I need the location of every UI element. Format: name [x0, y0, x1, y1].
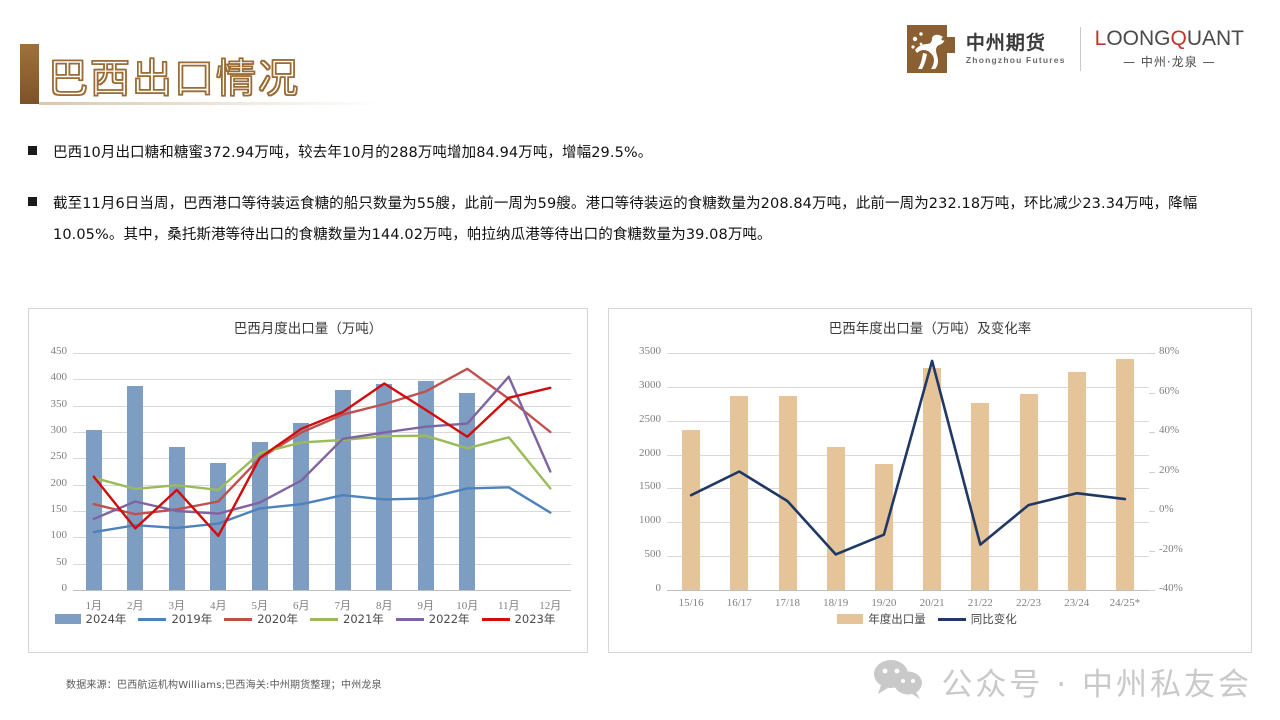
loongquant-cn: — 中州·龙泉 — [1123, 53, 1215, 70]
chart-line-2019年 [94, 487, 551, 532]
loongquant-en-uant: UANT [1187, 27, 1244, 50]
annual-export-chart-panel: 巴西年度出口量（万吨）及变化率 050010001500200025003000… [608, 308, 1252, 653]
x-axis-tick-label: 23/24 [1053, 597, 1101, 609]
legend-swatch-line [224, 618, 252, 621]
y2-tick-mark [1149, 551, 1155, 552]
loongquant-en: LOONGQUANT [1095, 28, 1244, 49]
y2-axis-tick-label: 40% [1159, 424, 1201, 436]
loongquant-wordmark: LOONGQUANT — 中州·龙泉 — [1095, 28, 1244, 70]
bullet-list: 巴西10月出口糖和糖蜜372.94万吨，较去年10月的288万吨增加84.94万… [28, 138, 1252, 271]
y-axis-tick-label: 300 [31, 424, 67, 436]
y2-tick-mark [1149, 472, 1155, 473]
y2-axis-tick-label: 80% [1159, 345, 1201, 357]
y-axis-tick-label: 450 [31, 345, 67, 357]
legend-item-2023年: 2023年 [482, 611, 556, 627]
legend-swatch-bar [837, 614, 863, 624]
legend-item-2020年: 2020年 [224, 611, 298, 627]
y-axis-tick-label: 1500 [625, 480, 661, 492]
chart-lines [73, 353, 571, 590]
legend-item-2024年: 2024年 [55, 611, 127, 627]
loongquant-en-oong: OONG [1106, 27, 1170, 50]
y2-tick-mark [1149, 393, 1155, 394]
y2-axis-tick-label: -20% [1159, 543, 1201, 555]
y-axis-tick-label: 2000 [625, 447, 661, 459]
legend-label: 2022年 [429, 611, 470, 627]
x-axis-tick-label: 22/23 [1004, 597, 1052, 609]
legend-item-年度出口量: 年度出口量 [837, 611, 926, 627]
legend-swatch-line [138, 618, 166, 621]
legend-swatch-bar [55, 614, 81, 624]
monthly-export-chart-panel: 巴西月度出口量（万吨） 0501001502002503003504004501… [28, 308, 588, 653]
legend-item-2021年: 2021年 [310, 611, 384, 627]
legend-item-2022年: 2022年 [396, 611, 470, 627]
chart-legend: 2024年2019年2020年2021年2022年2023年 [29, 611, 587, 627]
y-axis-tick-label: 400 [31, 371, 67, 383]
y2-tick-mark [1149, 432, 1155, 433]
x-axis-tick-label: 19/20 [860, 597, 908, 609]
y-axis-tick-label: 500 [625, 548, 661, 560]
y-axis-tick-label: 150 [31, 503, 67, 515]
x-axis-tick-label: 24/25* [1101, 597, 1149, 609]
leopard-logo-icon [905, 23, 957, 75]
y-axis-tick-label: 2500 [625, 413, 661, 425]
x-axis-line [73, 590, 571, 591]
x-axis-tick-label: 17/18 [763, 597, 811, 609]
y-axis-tick-label: 3500 [625, 345, 661, 357]
chart-lines [667, 353, 1149, 590]
watermark: 公众号 · 中州私友会 [871, 657, 1252, 706]
x-axis-tick-label: 18/19 [812, 597, 860, 609]
logo-divider [1080, 27, 1081, 71]
annual-export-plot: 0500100015002000250030003500-40%-20%0%20… [667, 353, 1149, 590]
list-item: 巴西10月出口糖和糖蜜372.94万吨，较去年10月的288万吨增加84.94万… [28, 138, 1252, 169]
legend-label: 2021年 [343, 611, 384, 627]
title-accent-bar [20, 44, 39, 104]
chart-title: 巴西年度出口量（万吨）及变化率 [609, 317, 1251, 337]
bullet-text: 截至11月6日当周，巴西港口等待装运食糖的船只数量为55艘，此前一周为59艘。港… [53, 189, 1252, 251]
wechat-icon [871, 657, 927, 706]
x-axis-tick-label: 15/16 [667, 597, 715, 609]
brand-logo: 中州期货 Zhongzhou Futures LOONGQUANT — 中州·龙… [905, 20, 1244, 78]
y2-tick-mark [1149, 511, 1155, 512]
title-underline [39, 102, 379, 105]
y2-axis-tick-label: 60% [1159, 385, 1201, 397]
monthly-export-plot: 0501001502002503003504004501月2月3月4月5月6月7… [73, 353, 571, 590]
chart-legend: 年度出口量同比变化 [609, 611, 1251, 627]
zhongzhou-en: Zhongzhou Futures [966, 55, 1066, 65]
y-axis-tick-label: 1000 [625, 514, 661, 526]
y-axis-tick-label: 350 [31, 398, 67, 410]
legend-label: 同比变化 [971, 611, 1017, 627]
y2-tick-mark [1149, 353, 1155, 354]
y-axis-tick-label: 100 [31, 529, 67, 541]
x-axis-tick-label: 21/22 [956, 597, 1004, 609]
x-axis-line [667, 590, 1149, 591]
zhongzhou-wordmark: 中州期货 Zhongzhou Futures [966, 33, 1066, 66]
x-axis-tick-label: 20/21 [908, 597, 956, 609]
bullet-square-icon [28, 197, 37, 206]
legend-swatch-line [310, 618, 338, 621]
page-title-bar: 巴西出口情况 [20, 44, 380, 106]
y-axis-tick-label: 200 [31, 477, 67, 489]
y2-axis-tick-label: -40% [1159, 582, 1201, 594]
chart-line-同比变化 [691, 361, 1125, 555]
y2-axis-tick-label: 0% [1159, 503, 1201, 515]
bullet-text: 巴西10月出口糖和糖蜜372.94万吨，较去年10月的288万吨增加84.94万… [53, 138, 652, 169]
legend-swatch-line [938, 618, 966, 621]
watermark-text: 公众号 · 中州私友会 [941, 659, 1252, 704]
y-axis-tick-label: 0 [625, 582, 661, 594]
legend-label: 年度出口量 [868, 611, 926, 627]
loongquant-en-q: Q [1170, 27, 1186, 50]
data-source-note: 数据来源：巴西航运机构Williams;巴西海关:中州期货整理；中州龙泉 [66, 676, 382, 691]
zhongzhou-cn: 中州期货 [966, 33, 1066, 54]
page-title: 巴西出口情况 [48, 46, 300, 104]
chart-line-2021年 [94, 436, 551, 490]
chart-line-2022年 [94, 377, 551, 519]
y2-axis-tick-label: 20% [1159, 464, 1201, 476]
legend-label: 2023年 [515, 611, 556, 627]
y-axis-tick-label: 0 [31, 582, 67, 594]
legend-item-2019年: 2019年 [138, 611, 212, 627]
bullet-square-icon [28, 146, 37, 155]
x-axis-tick-label: 16/17 [715, 597, 763, 609]
legend-swatch-line [482, 618, 510, 621]
y2-tick-mark [1149, 590, 1155, 591]
y-axis-tick-label: 3000 [625, 379, 661, 391]
y-axis-tick-label: 250 [31, 450, 67, 462]
list-item: 截至11月6日当周，巴西港口等待装运食糖的船只数量为55艘，此前一周为59艘。港… [28, 189, 1252, 251]
legend-label: 2020年 [257, 611, 298, 627]
slide-page: 巴西出口情况 中州期货 Zhongzhou Futures LOONGQUANT… [0, 0, 1280, 720]
chart-title: 巴西月度出口量（万吨） [29, 317, 587, 337]
loongquant-en-l: L [1095, 27, 1107, 50]
legend-label: 2024年 [86, 611, 127, 627]
legend-item-同比变化: 同比变化 [938, 611, 1017, 627]
y-axis-tick-label: 50 [31, 556, 67, 568]
legend-swatch-line [396, 618, 424, 621]
legend-label: 2019年 [171, 611, 212, 627]
